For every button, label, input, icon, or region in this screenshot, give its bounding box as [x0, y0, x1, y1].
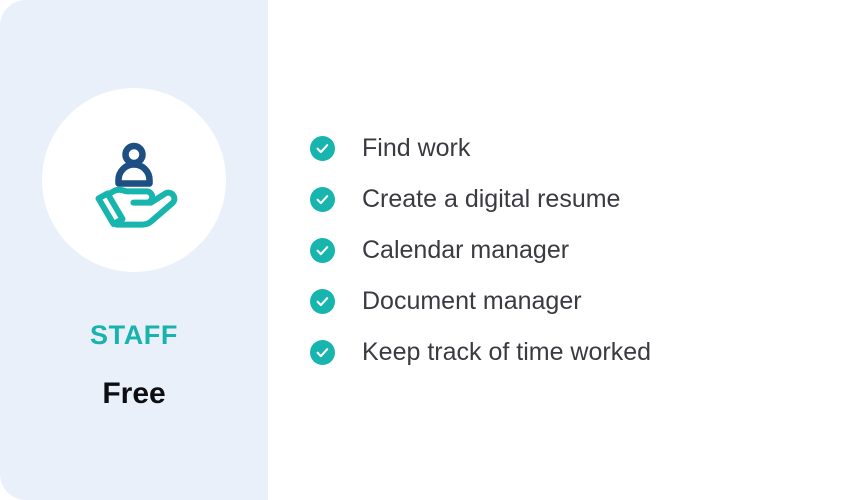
plan-features-panel: Find work Create a digital resume Calend… — [268, 0, 860, 500]
plan-summary-panel: STAFF Free — [0, 0, 268, 500]
list-item: Calendar manager — [310, 225, 860, 276]
hand-holding-person-icon — [82, 128, 186, 232]
list-item: Keep track of time worked — [310, 327, 860, 378]
plan-price: Free — [102, 379, 165, 409]
list-item: Document manager — [310, 276, 860, 327]
plan-icon-badge — [42, 88, 226, 272]
feature-label: Create a digital resume — [362, 187, 620, 212]
feature-label: Document manager — [362, 289, 582, 314]
feature-label: Keep track of time worked — [362, 340, 651, 365]
check-circle-icon — [310, 289, 335, 314]
check-circle-icon — [310, 187, 335, 212]
feature-label: Calendar manager — [362, 238, 569, 263]
features-list: Find work Create a digital resume Calend… — [310, 123, 860, 378]
check-circle-icon — [310, 340, 335, 365]
plan-name: STAFF — [90, 322, 178, 349]
check-circle-icon — [310, 136, 335, 161]
pricing-plan-card: STAFF Free Find work Create a digit — [0, 0, 860, 500]
list-item: Create a digital resume — [310, 174, 860, 225]
check-circle-icon — [310, 238, 335, 263]
list-item: Find work — [310, 123, 860, 174]
feature-label: Find work — [362, 136, 470, 161]
